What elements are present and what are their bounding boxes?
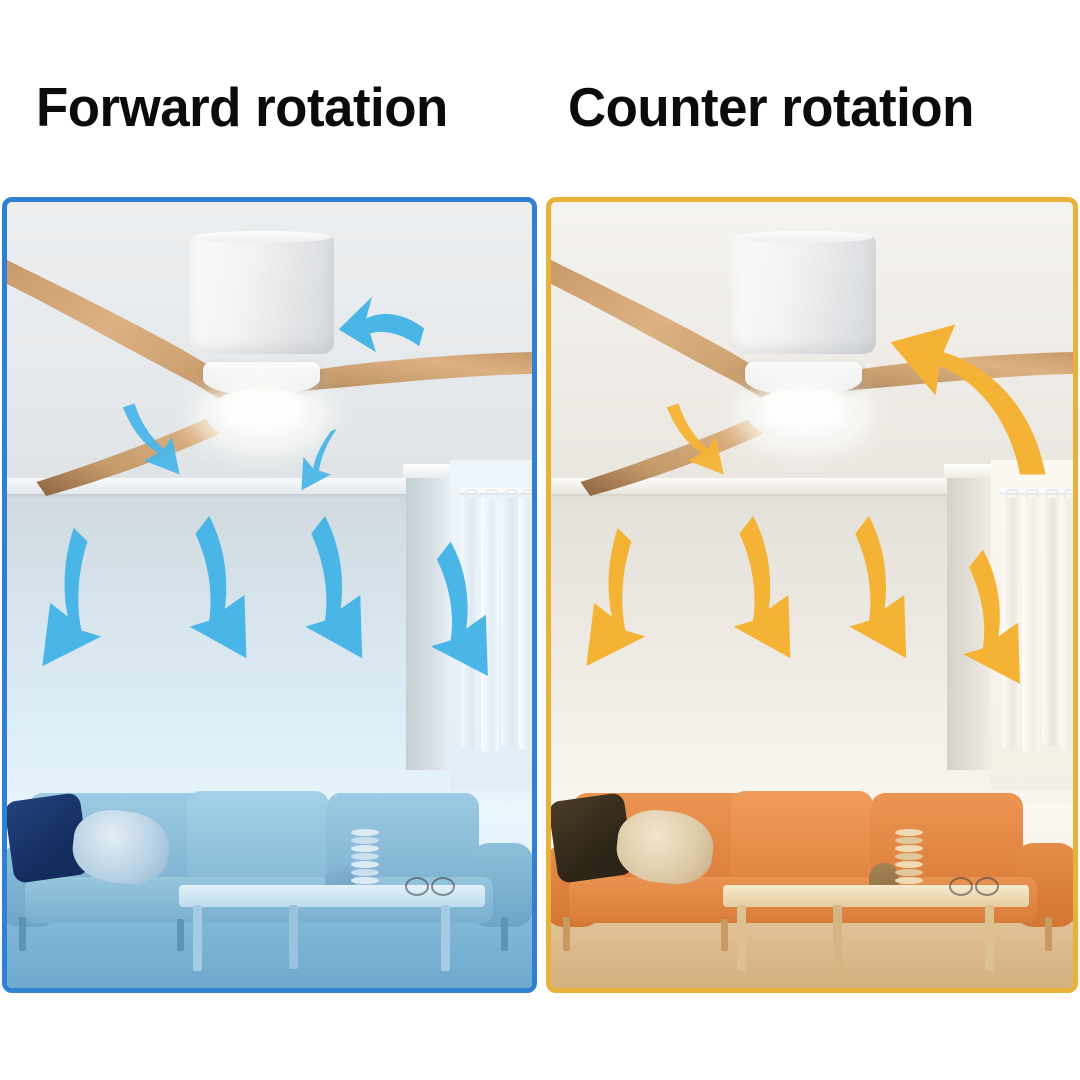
heading-counter-rotation: Counter rotation	[568, 76, 974, 138]
panel-counter-rotation: Air flows upwards With air conditioning,…	[546, 197, 1078, 993]
fan-motor-housing-left	[189, 236, 334, 354]
panel-forward-rotation: Air flows down Bring cool wind	[2, 197, 537, 993]
heading-forward-rotation: Forward rotation	[36, 76, 448, 138]
fan-motor-housing-right	[731, 236, 876, 354]
living-room-scene-left	[7, 773, 532, 988]
fan-light-left	[206, 388, 318, 442]
curtain-left	[459, 488, 532, 778]
comparison-figure: Forward rotation Counter rotation	[0, 0, 1080, 1080]
ceiling-fan-left	[7, 202, 532, 502]
coffee-table-left	[179, 885, 485, 971]
fan-light-right	[748, 388, 860, 442]
living-room-scene-right	[551, 773, 1073, 988]
wall-corner-left	[406, 470, 450, 770]
curtain-right	[1000, 488, 1073, 778]
eyeglasses-right	[949, 877, 1001, 893]
coffee-table-right	[723, 885, 1029, 971]
eyeglasses-left	[405, 877, 457, 893]
ceiling-fan-right	[551, 202, 1073, 502]
wall-corner-right	[947, 470, 991, 770]
